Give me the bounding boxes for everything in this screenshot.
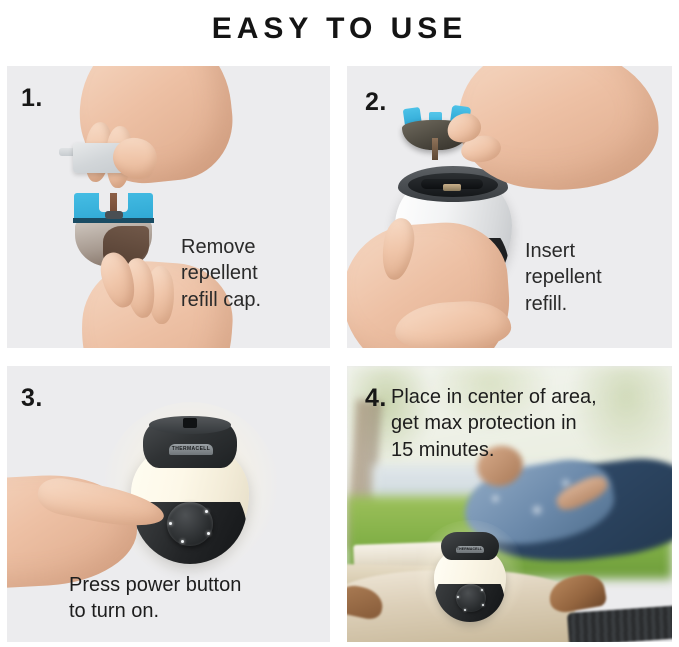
refill-stem-cap — [105, 211, 123, 219]
led-indicator-1 — [205, 510, 208, 513]
repeller-device-glowing: THERMACELL — [129, 418, 251, 566]
step-number-4: 4. — [365, 384, 387, 413]
step-caption-4: Place in center of area, get max protect… — [391, 384, 597, 463]
step-panel-3: THERMACELL 3. Press power button to turn… — [7, 366, 330, 642]
page-title: EASY TO USE — [0, 0, 679, 58]
led-indicator-3 — [181, 540, 184, 543]
repeller-device-on-table: THERMACELL — [432, 532, 508, 624]
power-button — [456, 584, 486, 612]
step-caption-1: Remove repellent refill cap. — [181, 234, 261, 313]
led-indicator-1 — [481, 589, 483, 591]
step-caption-3: Press power button to turn on. — [69, 572, 241, 625]
led-indicator-4 — [457, 596, 459, 598]
step-number-3: 3. — [21, 384, 43, 413]
power-button — [167, 502, 213, 546]
thermacell-logo: THERMACELL — [169, 444, 213, 455]
led-indicator-2 — [207, 532, 210, 535]
easy-to-use-infographic: EASY TO USE 1. Remove repellent refill c… — [0, 0, 679, 647]
step-caption-2: Insert repellent refill. — [525, 238, 602, 317]
step-panel-4: THERMACELL 4. Place in center of area, g… — [347, 366, 672, 642]
refill-stem — [432, 138, 438, 160]
device-vent — [183, 418, 197, 428]
led-indicator-2 — [482, 604, 484, 606]
device-connector — [443, 184, 461, 191]
step-panel-2: 2. Insert repellent refill. — [347, 66, 672, 348]
thermacell-logo: THERMACELL — [456, 546, 484, 553]
led-indicator-4 — [169, 522, 172, 525]
dark-mat — [567, 605, 672, 642]
step-number-1: 1. — [21, 84, 43, 113]
led-indicator-3 — [464, 609, 466, 611]
step-number-2: 2. — [365, 88, 387, 117]
step-panel-1: 1. Remove repellent refill cap. — [7, 66, 330, 348]
